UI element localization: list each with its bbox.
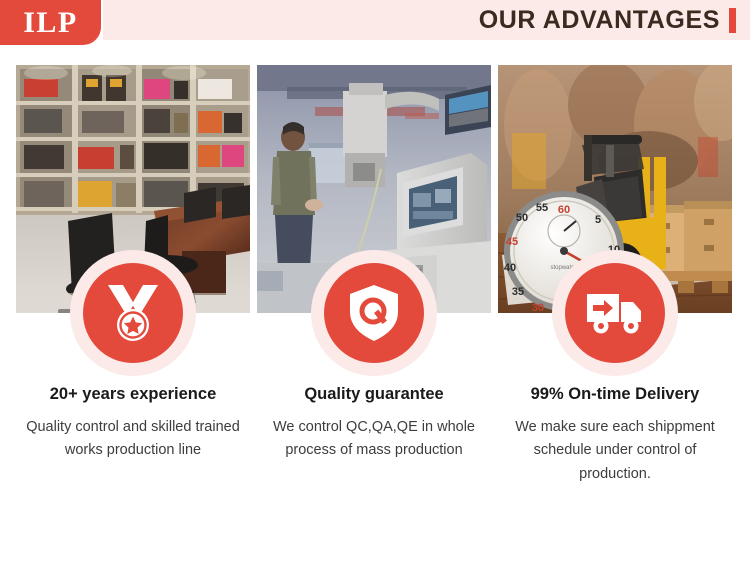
badge-circle — [324, 263, 424, 363]
card-title: 99% On-time Delivery — [502, 385, 728, 405]
advantage-card: Quality guarantee We control QC,QA,QE in… — [257, 65, 491, 486]
svg-text:40: 40 — [504, 262, 516, 274]
advantage-card: 60 5 10 15 20 25 30 35 40 45 50 55 — [498, 65, 732, 486]
card-title: 20+ years experience — [20, 385, 246, 405]
card-description: Quality control and skilled trained work… — [20, 416, 246, 463]
svg-text:5: 5 — [595, 214, 601, 226]
header-accent-bar — [729, 8, 736, 33]
shield-q-icon — [348, 284, 400, 342]
svg-text:55: 55 — [536, 202, 548, 214]
svg-text:50: 50 — [516, 212, 528, 224]
brand-logo-text: ILP — [23, 8, 78, 38]
svg-text:45: 45 — [506, 236, 518, 248]
badge-circle — [83, 263, 183, 363]
advantage-card-list: 20+ years experience Quality control and… — [16, 65, 734, 486]
card-text: 99% On-time Delivery We make sure each s… — [498, 385, 732, 486]
medal-star-icon — [106, 284, 160, 342]
card-description: We make sure each shippment schedule und… — [502, 416, 728, 486]
card-badge — [70, 250, 196, 376]
card-text: 20+ years experience Quality control and… — [16, 385, 250, 463]
card-title: Quality guarantee — [261, 385, 487, 405]
card-text: Quality guarantee We control QC,QA,QE in… — [257, 385, 491, 463]
advantage-card: 20+ years experience Quality control and… — [16, 65, 250, 486]
delivery-truck-icon — [586, 291, 644, 335]
brand-logo[interactable]: ILP — [0, 0, 101, 45]
card-badge — [552, 250, 678, 376]
page-title: OUR ADVANTAGES — [479, 8, 720, 33]
svg-text:35: 35 — [512, 286, 524, 298]
svg-text:60: 60 — [558, 204, 570, 216]
our-advantages-page: OUR ADVANTAGES ILP — [0, 0, 750, 575]
badge-circle — [565, 263, 665, 363]
header-banner: OUR ADVANTAGES — [103, 0, 750, 40]
card-badge — [311, 250, 437, 376]
svg-text:30: 30 — [532, 302, 544, 313]
card-description: We control QC,QA,QE in whole process of … — [261, 416, 487, 463]
page-header: OUR ADVANTAGES ILP — [0, 0, 750, 56]
